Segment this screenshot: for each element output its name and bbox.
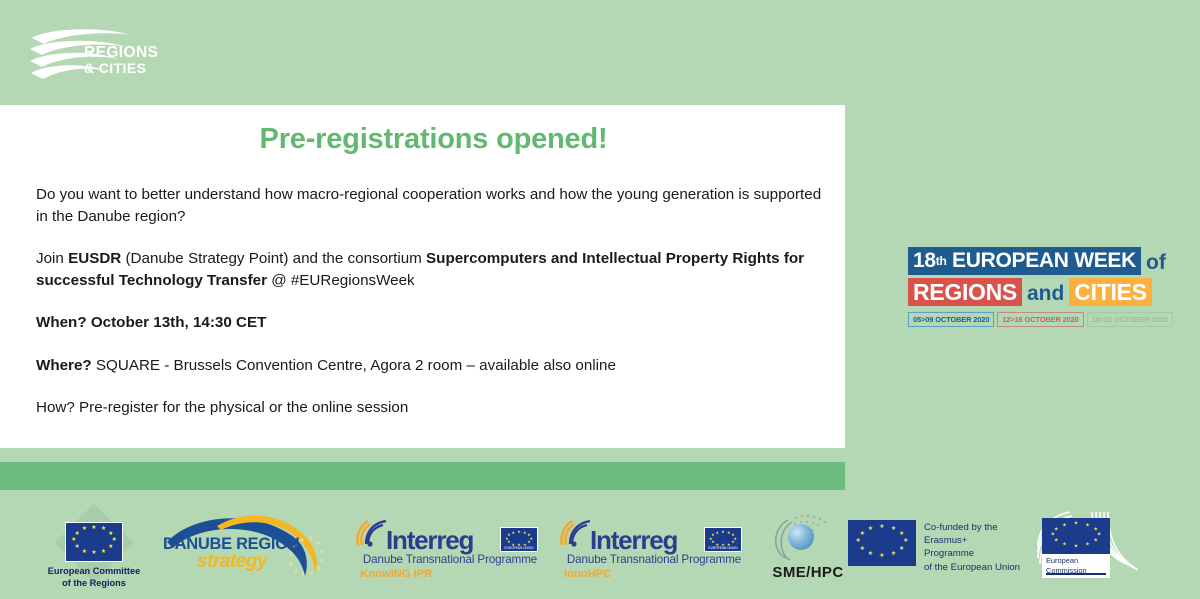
european-commission-logo: ★ ★ ★ ★ ★ ★ ★ ★ ★ ★ ★ ★ European Commiss… [1036,510,1156,588]
hashtag-text: @ #EURegionsWeek [267,272,415,289]
eu-flag-icon: ★ ★ ★ ★ ★ ★ ★ ★ ★ ★ ★ ★ [65,522,123,562]
badge-date-boxes: 05>09 OCTOBER 2020 12>16 OCTOBER 2020 19… [908,312,1160,327]
content-card: Pre-registrations opened! Do you want to… [0,105,845,448]
regions-and-cities-logo: REGIONS & CITIES [22,22,172,90]
european-committee-of-regions-logo: ★ ★ ★ ★ ★ ★ ★ ★ ★ ★ ★ ★ European Committ… [52,513,152,585]
when-value: October 13th, 14:30 CET [87,314,267,331]
when-label: When? [36,314,87,331]
danube-region-strategy-logo: DANUBE REGION strategy [155,508,335,586]
join-text: Join [36,250,68,267]
paragraph-how: How? Pre-register for the physical or th… [36,397,836,419]
card-body-text: Do you want to better understand how mac… [36,184,836,419]
badge-cities-block: CITIES [1069,278,1151,306]
page-title: Pre-registrations opened! [0,123,845,156]
date-box-week-3: 19>22 OCTOBER 2020 [1087,312,1173,327]
event-announcement-poster: REGIONS & CITIES Pre-registrations opene… [0,0,1200,599]
sme-hpc-logo: SME/HPC [762,510,854,586]
commission-flag-block: ★ ★ ★ ★ ★ ★ ★ ★ ★ ★ ★ ★ European Commiss… [1042,518,1110,578]
badge-edition-block: 18th EUROPEAN WEEK [908,247,1141,275]
caption-line-1: European [1046,556,1087,566]
european-week-text: EUROPEAN WEEK [952,249,1136,273]
caption-line-3: of the European Union [924,561,1020,574]
edition-number: 18 [913,249,936,273]
badge-line-2: REGIONS and CITIES [908,276,1160,306]
interreg-subtitle: Danube Transnational Programme [556,553,752,566]
regions-and-cities-wordmark: REGIONS & CITIES [84,45,158,76]
caption-underline [1046,573,1106,575]
paragraph-where: Where? SQUARE - Brussels Convention Cent… [36,355,836,377]
logo-caption: SME/HPC [762,564,854,581]
caption-line-2: of the Regions [42,578,146,590]
consortium-text: (Danube Strategy Point) and the consorti… [121,250,426,267]
flag-caption: EUROPEAN UNION [705,546,741,550]
logo-caption: European Committee of the Regions [42,566,146,589]
badge-regions-block: REGIONS [908,278,1022,306]
eu-flag-icon: ★ ★ ★ ★ ★ ★ ★ ★ ★ ★ ★ ★ EUROPEAN UNION [500,527,538,552]
badge-of-text: of [1141,251,1166,275]
green-divider-bar [0,462,845,490]
caption-line-1: Co-funded by the [924,521,1020,534]
interreg-innohpc-logo: Interreg ★ ★ ★ ★ ★ ★ ★ ★ ★ ★ ★ ★ EUROPEA… [556,508,752,588]
date-box-week-1: 05>09 OCTOBER 2020 [908,312,994,327]
eu-flag-icon: ★ ★ ★ ★ ★ ★ ★ ★ ★ ★ ★ ★ [848,520,916,566]
erasmus-cofunded-logo: ★ ★ ★ ★ ★ ★ ★ ★ ★ ★ ★ ★ Co-funded by the… [848,516,1018,572]
partner-logos-strip: ★ ★ ★ ★ ★ ★ ★ ★ ★ ★ ★ ★ European Committ… [0,498,1200,599]
interreg-wordmark: Interreg [590,525,677,556]
paragraph-when: When? October 13th, 14:30 CET [36,312,836,334]
badge-line-1: 18th EUROPEAN WEEK of [908,245,1160,275]
badge-and-text: and [1022,282,1069,306]
eu-flag-icon: ★ ★ ★ ★ ★ ★ ★ ★ ★ ★ ★ ★ EUROPEAN UNION [704,527,742,552]
logo-line-1: REGIONS [84,44,158,61]
interreg-programme-name: KnowING IPR [352,568,548,580]
date-box-week-2: 12>16 OCTOBER 2020 [997,312,1083,327]
where-value: SQUARE - Brussels Convention Centre, Ago… [92,357,616,374]
interreg-wordmark: Interreg [386,525,473,556]
paragraph-consortium: Join EUSDR (Danube Strategy Point) and t… [36,248,836,291]
eu-flag-icon: ★ ★ ★ ★ ★ ★ ★ ★ ★ ★ ★ ★ [1042,518,1110,554]
flag-caption: EUROPEAN UNION [501,546,537,550]
where-label: Where? [36,357,92,374]
caption-line-1: European Committee [42,566,146,578]
interreg-knowing-ipr-logo: Interreg ★ ★ ★ ★ ★ ★ ★ ★ ★ ★ ★ ★ EUROPEA… [352,508,548,588]
eusdr-bold: EUSDR [68,250,121,267]
european-week-regions-cities-badge: 18th EUROPEAN WEEK of REGIONS and CITIES… [908,245,1160,327]
paragraph-intro: Do you want to better understand how mac… [36,184,836,227]
interreg-subtitle: Danube Transnational Programme [352,553,548,566]
drs-line-2: strategy [197,551,267,573]
logo-line-2: & CITIES [84,61,158,76]
sphere-icon [788,524,814,550]
logo-caption: Co-funded by the Erasmus+ Programme of t… [924,521,1020,574]
caption-line-2: Erasmus+ Programme [924,534,1020,560]
interreg-programme-name: InnoHPC [556,568,752,580]
